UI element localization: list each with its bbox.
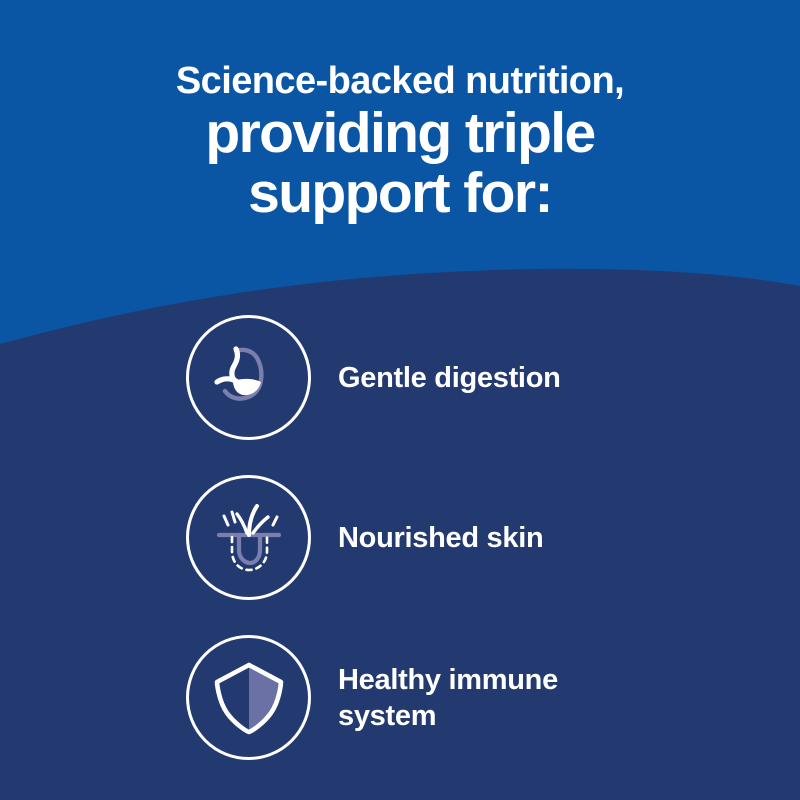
list-item: Nourished skin bbox=[186, 475, 543, 600]
benefit-label-skin: Nourished skin bbox=[338, 520, 543, 556]
benefit-label-digestion: Gentle digestion bbox=[338, 360, 561, 396]
poster-canvas: Science-backed nutrition, providing trip… bbox=[0, 0, 800, 800]
stomach-icon bbox=[206, 335, 292, 421]
list-item: Healthy immune system bbox=[186, 635, 558, 760]
icon-circle-immune bbox=[186, 635, 311, 760]
list-item: Gentle digestion bbox=[186, 315, 561, 440]
shield-icon bbox=[206, 655, 292, 741]
headline-line-2: providing triple bbox=[40, 104, 760, 162]
headline-line-3: support for: bbox=[40, 162, 760, 224]
icon-circle-digestion bbox=[186, 315, 311, 440]
benefit-label-immune: Healthy immune system bbox=[338, 662, 558, 734]
headline-line-1: Science-backed nutrition, bbox=[40, 58, 760, 104]
hair-follicle-skin-icon bbox=[206, 495, 292, 581]
icon-circle-skin bbox=[186, 475, 311, 600]
page-title: Science-backed nutrition, providing trip… bbox=[0, 58, 800, 224]
